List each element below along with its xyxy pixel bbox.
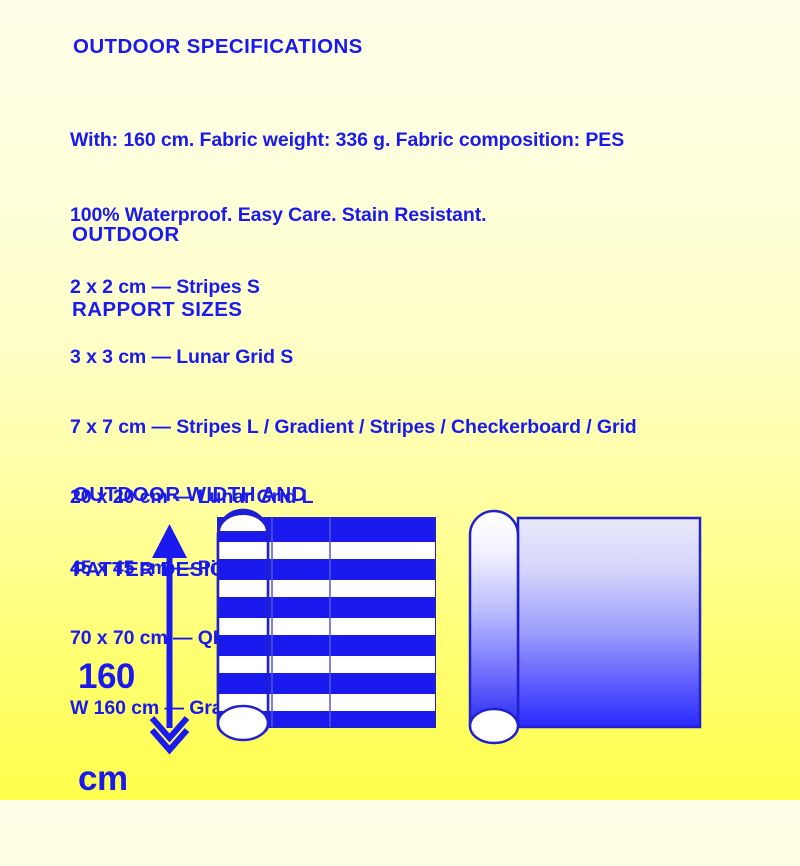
- fabric-roll-diagram: [0, 480, 800, 780]
- poster-canvas: OUTDOOR SPECIFICATIONS With: 160 cm. Fab…: [0, 0, 800, 800]
- gradient-roll: [470, 511, 700, 743]
- gradient-roll-tube: [470, 511, 518, 738]
- gradient-panel: [518, 518, 700, 727]
- tube-stripe: [219, 656, 267, 673]
- rapport-size-item: 3 x 3 cm — Lunar Grid S: [70, 346, 637, 369]
- spec-heading: OUTDOOR SPECIFICATIONS: [73, 35, 363, 59]
- tube-stripe: [219, 542, 267, 559]
- rapport-size-item: 2 x 2 cm — Stripes S: [70, 276, 637, 299]
- arrow-head-up-icon: [152, 524, 187, 558]
- gradient-roll-bottom-cap: [470, 709, 518, 743]
- striped-roll: [218, 510, 435, 740]
- tube-stripe: [219, 618, 267, 635]
- spec-line: With: 160 cm. Fabric weight: 336 g. Fabr…: [70, 128, 624, 153]
- tube-stripe: [219, 580, 267, 597]
- roll-bottom-cap: [218, 706, 268, 740]
- height-arrow: [152, 524, 187, 750]
